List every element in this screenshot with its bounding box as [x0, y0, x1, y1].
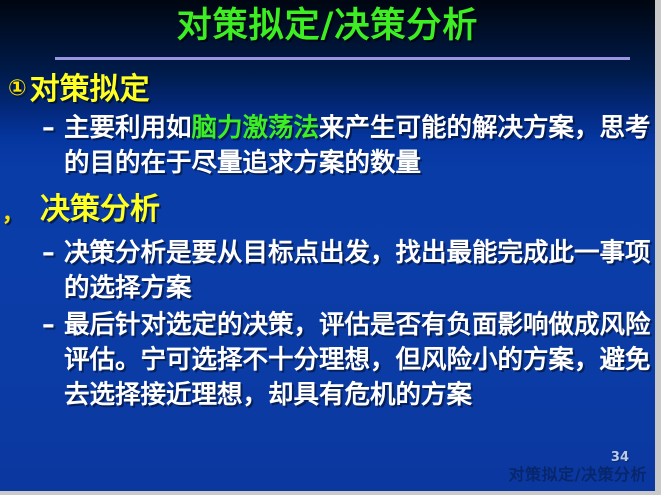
bullet-item: –主要利用如脑力激荡法来产生可能的解决方案，思考的目的在于尽量追求方案的数量	[42, 111, 654, 181]
bullet-dash: –	[42, 308, 55, 343]
title-divider-rule	[55, 57, 630, 60]
bullet-text-part: 主要利用如	[64, 113, 192, 143]
section-marker-1: ①	[8, 70, 27, 108]
bullet-text-part: 最后针对选定的决策，评估是否有负面影响做成风险评估。宁可选择不十分理想，但风险小…	[64, 310, 651, 410]
slide-title: 对策拟定/决策分析	[0, 2, 655, 50]
bullet-text-part: 决策分析是要从目标点出发，找出最能完成此一事项的选择方案	[64, 238, 651, 303]
slide-body: ①对策拟定 –主要利用如脑力激荡法来产生可能的解决方案，思考的目的在于尽量追求方…	[0, 70, 655, 413]
bullet-dash: –	[42, 236, 55, 271]
section-heading-2: ，决策分析	[2, 191, 655, 234]
section-heading-text-2: 决策分析	[40, 191, 160, 229]
slide-canvas: 对策拟定/决策分析 ①对策拟定 –主要利用如脑力激荡法来产生可能的解决方案，思考…	[0, 0, 655, 491]
section-heading-text-1: 对策拟定	[30, 71, 150, 109]
section-marker-2: ，	[2, 196, 24, 234]
bullet-item: –决策分析是要从目标点出发，找出最能完成此一事项的选择方案	[42, 236, 654, 306]
bullet-text-highlight: 脑力激荡法	[192, 113, 320, 143]
footer-watermark: 对策拟定/决策分析	[509, 461, 647, 485]
section-heading-1: ①对策拟定	[8, 70, 655, 109]
bullet-item: –最后针对选定的决策，评估是否有负面影响做成风险评估。宁可选择不十分理想，但风险…	[42, 308, 654, 413]
bullet-dash: –	[42, 111, 55, 146]
